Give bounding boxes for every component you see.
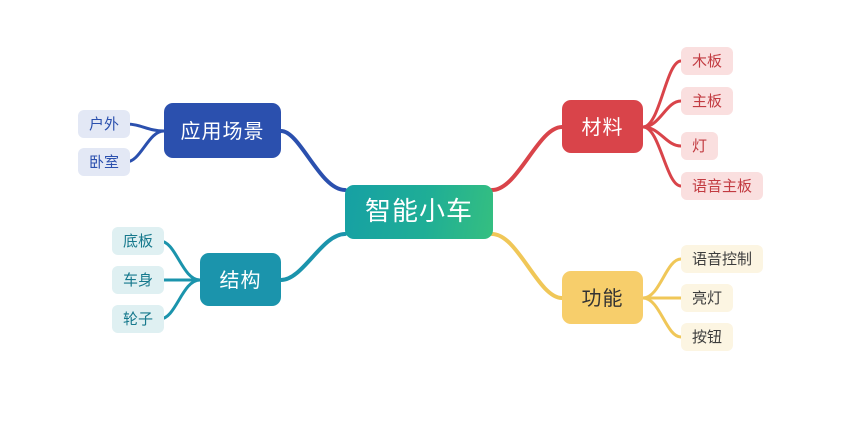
branch-node-scene[interactable]: 应用场景 — [164, 103, 281, 158]
leaf-node-muban[interactable]: 木板 — [681, 47, 733, 75]
root-node[interactable]: 智能小车 — [345, 185, 493, 239]
mindmap-canvas: 智能小车 应用场景 结构 材料 功能 户外 卧室 底板 车身 轮子 木板 主板 … — [0, 0, 846, 439]
leaf-node-yuyinkongzhi[interactable]: 语音控制 — [681, 245, 763, 273]
leaf-node-yuyinzhuban[interactable]: 语音主板 — [681, 172, 763, 200]
connector-function-to-anniu — [643, 298, 681, 337]
connector-structure-to-lunzi — [160, 280, 200, 319]
leaf-node-diban[interactable]: 底板 — [112, 227, 164, 255]
connector-scene-to-huwai — [126, 124, 164, 131]
leaf-node-deng[interactable]: 灯 — [681, 132, 718, 160]
connector-scene-to-woshi — [126, 131, 164, 162]
branch-node-material[interactable]: 材料 — [562, 100, 643, 153]
leaf-node-anniu[interactable]: 按钮 — [681, 323, 733, 351]
leaf-node-zhuban[interactable]: 主板 — [681, 87, 733, 115]
branch-node-structure[interactable]: 结构 — [200, 253, 281, 306]
connector-root-to-structure — [281, 234, 345, 280]
leaf-node-woshi[interactable]: 卧室 — [78, 148, 130, 176]
connector-root-to-scene — [281, 131, 345, 190]
connector-root-to-material — [492, 127, 562, 190]
leaf-node-lunzi[interactable]: 轮子 — [112, 305, 164, 333]
leaf-node-cheshen[interactable]: 车身 — [112, 266, 164, 294]
leaf-node-liangdeng[interactable]: 亮灯 — [681, 284, 733, 312]
leaf-node-huwai[interactable]: 户外 — [78, 110, 130, 138]
connector-root-to-function — [492, 234, 562, 298]
connector-function-to-yuyinkongzhi — [643, 259, 681, 298]
branch-node-function[interactable]: 功能 — [562, 271, 643, 324]
connector-structure-to-diban — [160, 241, 200, 280]
